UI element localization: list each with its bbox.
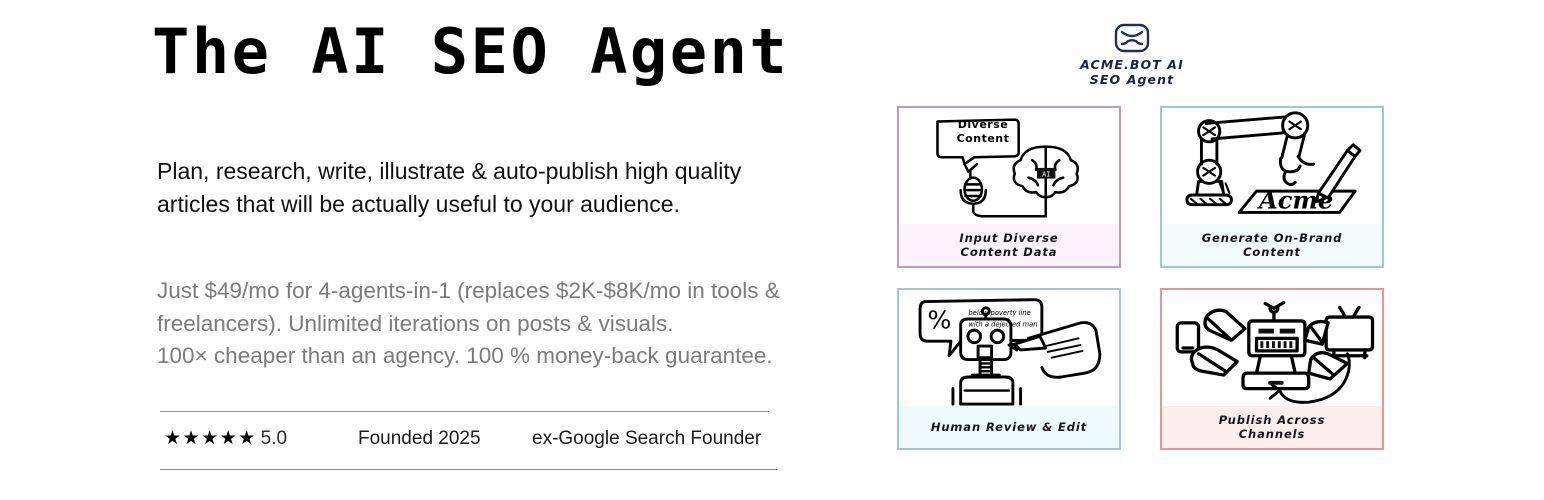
human-review-art-icon: % below poverty line with a dejected man: [899, 290, 1119, 406]
hero-pricing-copy: Just $49/mo for 4-agents-in-1 (replaces …: [157, 275, 807, 373]
rating-value: 5.0: [261, 428, 287, 449]
pricing-line-1: Just $49/mo for 4-agents-in-1 (replaces …: [157, 278, 780, 336]
bubble-note-1: below poverty line: [968, 309, 1030, 317]
stat-founder: ex-Google Search Founder: [532, 424, 761, 454]
stats-row: ★★★★★5.0 Founded 2025 ex-Google Search F…: [160, 424, 780, 458]
caption-line-2: Content Data: [961, 245, 1058, 259]
brand-name-line-2: SEO Agent: [1090, 72, 1174, 87]
bubble-symbol: %: [927, 306, 951, 335]
panel-1-caption: Input Diverse Content Data: [899, 224, 1119, 266]
panel-2-caption: Generate On-Brand Content: [1162, 224, 1382, 266]
landing-hero: The AI SEO Agent Plan, research, write, …: [0, 0, 1544, 500]
brand-name: ACME.BOT AI SEO Agent: [840, 58, 1424, 87]
bubble-line-2: Content: [957, 132, 1010, 145]
caption-line-2: Channels: [1239, 427, 1306, 441]
pricing-line-2: 100× cheaper than an agency. 100 % money…: [157, 343, 773, 368]
speech-bubble-text: Diverse Content: [945, 118, 1021, 146]
panel-3-illustration: % below poverty line with a dejected man: [899, 290, 1119, 406]
caption-line-1: Publish Across: [1219, 413, 1326, 427]
panel-1-illustration: AI Diverse Content: [899, 108, 1119, 224]
brand-name-line-1: ACME.BOT AI: [1080, 57, 1184, 72]
stat-rating: ★★★★★5.0: [164, 424, 287, 454]
panel-generate-on-brand-content[interactable]: Acme Generate On-Brand Content: [1160, 106, 1384, 268]
panel-2-illustration: Acme: [1162, 108, 1382, 224]
caption-line-2: Content: [1243, 245, 1301, 259]
bubble-line-1: Diverse: [958, 118, 1008, 131]
hero-copy-column: The AI SEO Agent Plan, research, write, …: [0, 0, 840, 500]
panel-4-caption: Publish Across Channels: [1162, 406, 1382, 448]
panel-3-caption: Human Review & Edit: [899, 406, 1119, 448]
panel-4-illustration: [1162, 290, 1382, 406]
hero-subheadline: Plan, research, write, illustrate & auto…: [157, 155, 767, 221]
stats-divider-top: [160, 411, 769, 412]
caption-line-1: Human Review & Edit: [931, 420, 1087, 434]
bubble-note-2: with a dejected man: [968, 321, 1037, 329]
page-title: The AI SEO Agent: [152, 21, 789, 83]
star-rating-icon: ★★★★★: [164, 428, 257, 449]
stats-divider-bottom: [160, 469, 777, 470]
publish-channels-art-icon: [1162, 290, 1382, 406]
brain-chip-label: AI: [1042, 171, 1050, 179]
caption-line-1: Input Diverse: [959, 231, 1058, 245]
workflow-panel-grid: AI Diverse Content Input Diverse Content…: [896, 105, 1448, 465]
robot-face-icon: [1111, 22, 1153, 54]
panel-human-review-and-edit[interactable]: % below poverty line with a dejected man…: [897, 288, 1121, 450]
written-word: Acme: [1257, 186, 1333, 215]
brand-block: ACME.BOT AI SEO Agent: [840, 22, 1424, 87]
hero-visual-column: ACME.BOT AI SEO Agent: [840, 0, 1544, 500]
caption-line-1: Generate On-Brand: [1202, 231, 1343, 245]
robot-arm-writing-icon: Acme: [1162, 108, 1382, 224]
stat-founded: Founded 2025: [358, 424, 481, 454]
panel-publish-across-channels[interactable]: Publish Across Channels: [1160, 288, 1384, 450]
panel-input-diverse-content-data[interactable]: AI Diverse Content Input Diverse Content…: [897, 106, 1121, 268]
